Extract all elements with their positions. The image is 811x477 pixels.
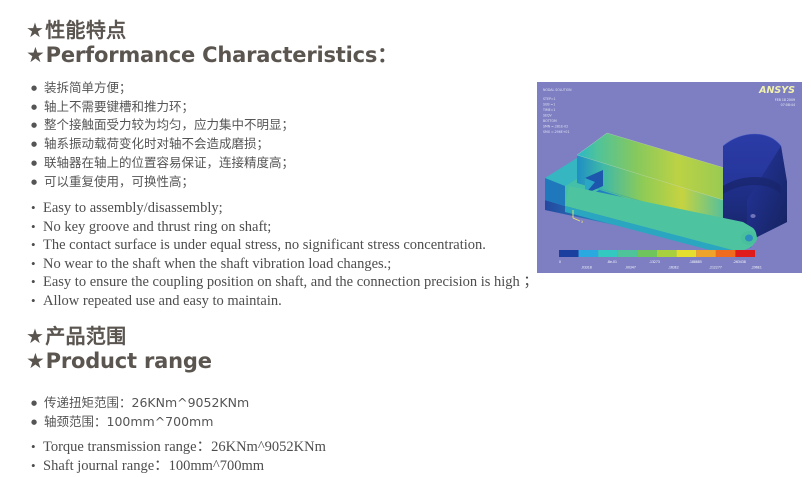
list-item: 装拆简单方便； <box>31 79 294 98</box>
list-item: 轴系振动载荷变化时对轴不会造成磨损； <box>31 135 294 154</box>
list-item: 可以重复使用，可换性高； <box>31 173 294 192</box>
svg-text:ANSYS: ANSYS <box>758 85 795 96</box>
list-item: Torque transmission range：26KNm^9052KNm <box>31 438 326 457</box>
svg-text:.263438: .263438 <box>733 260 746 264</box>
performance-bullets-cn: 装拆简单方便； 轴上不需要键槽和推力环； 整个接触面受力较为均匀，应力集中不明显… <box>31 79 294 191</box>
list-item: No key groove and thrust ring on shaft; <box>31 218 538 237</box>
list-item: 整个接触面受力较为均匀，应力集中不明显； <box>31 116 294 135</box>
performance-heading-cn: ★性能特点 <box>26 18 398 42</box>
product-range-heading-en-text: Product range <box>46 349 212 373</box>
performance-heading-en: ★Performance Characteristics： <box>26 42 398 68</box>
svg-text:SMN =.281E-02: SMN =.281E-02 <box>543 125 568 129</box>
list-item: 轴颈范围：100mm^700mm <box>31 413 249 432</box>
svg-text:.188885: .188885 <box>689 260 702 264</box>
product-range-bullets-en: Torque transmission range：26KNm^9052KNm … <box>31 438 326 475</box>
svg-text:.163E2: .163E2 <box>668 266 679 270</box>
fea-colorbar <box>559 250 755 257</box>
svg-text:.03318: .03318 <box>581 266 592 270</box>
list-item: Easy to ensure the coupling position on … <box>31 273 538 292</box>
svg-text:.00347: .00347 <box>625 266 636 270</box>
svg-text:SUB =1: SUB =1 <box>543 103 555 107</box>
product-range-heading-group: ★产品范围 ★Product range <box>26 324 212 374</box>
svg-text:.296E1: .296E1 <box>751 266 762 270</box>
star-icon: ★ <box>26 42 45 68</box>
svg-text:TIME=1: TIME=1 <box>542 108 555 112</box>
list-item: No wear to the shaft when the shaft vibr… <box>31 255 538 274</box>
svg-text:STEP=1: STEP=1 <box>543 97 556 101</box>
svg-text:FEB 18 2009: FEB 18 2009 <box>775 98 795 102</box>
performance-heading-group: ★性能特点 ★Performance Characteristics： <box>26 18 398 68</box>
star-icon: ★ <box>26 348 45 374</box>
list-item: 轴上不需要键槽和推力环； <box>31 98 294 117</box>
svg-text:07:08:44: 07:08:44 <box>781 103 795 107</box>
product-range-heading-cn: ★产品范围 <box>26 324 212 348</box>
list-item: 传递扭矩范围：26KNm^9052KNm <box>31 394 249 413</box>
svg-text:.8e-01: .8e-01 <box>607 260 617 264</box>
svg-text:0: 0 <box>559 260 561 264</box>
product-range-bullets-cn: 传递扭矩范围：26KNm^9052KNm 轴颈范围：100mm^700mm <box>31 394 249 431</box>
ansys-stress-analysis-image: NODAL SOLUTION STEP=1 SUB =1 TIME=1 SEQV… <box>537 82 802 273</box>
svg-text:.212277: .212277 <box>709 266 722 270</box>
performance-bullets-en: Easy to assembly/disassembly; No key gro… <box>31 199 538 311</box>
svg-text:SEQV: SEQV <box>543 114 553 118</box>
list-item: Allow repeated use and easy to maintain. <box>31 292 538 311</box>
list-item: 联轴器在轴上的位置容易保证，连接精度高； <box>31 154 294 173</box>
product-range-heading-cn-text: 产品范围 <box>45 324 126 348</box>
star-icon: ★ <box>26 18 44 42</box>
svg-text:NODAL SOLUTION: NODAL SOLUTION <box>543 88 572 92</box>
list-item: Easy to assembly/disassembly; <box>31 199 538 218</box>
star-icon: ★ <box>26 324 44 348</box>
svg-text:SMX =.296E+01: SMX =.296E+01 <box>543 130 569 134</box>
svg-text:BOTTOM: BOTTOM <box>543 119 557 123</box>
performance-heading-en-text: Performance Characteristics： <box>46 43 398 67</box>
product-range-heading-en: ★Product range <box>26 348 212 374</box>
list-item: Shaft journal range：100mm^700mm <box>31 457 326 476</box>
svg-text:.13273: .13273 <box>649 260 660 264</box>
performance-heading-cn-text: 性能特点 <box>45 18 126 42</box>
list-item: The contact surface is under equal stres… <box>31 236 538 255</box>
